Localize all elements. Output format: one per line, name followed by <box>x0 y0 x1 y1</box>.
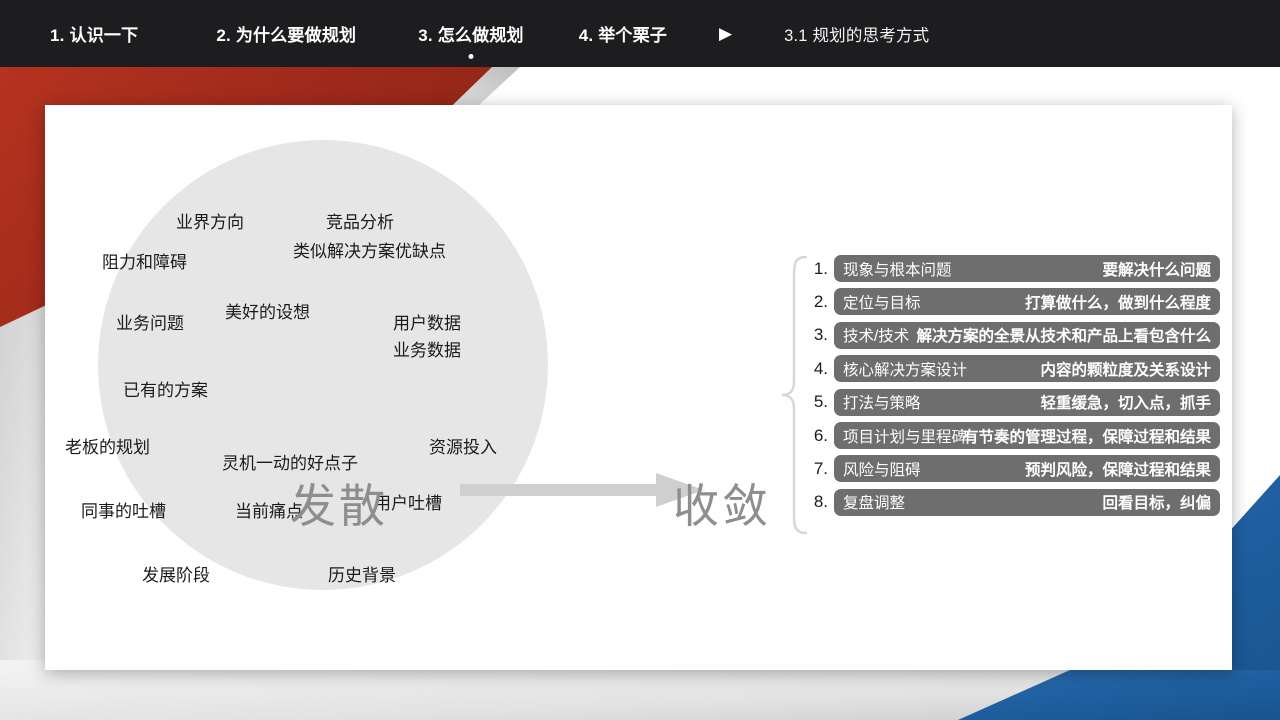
cloud-word: 美好的设想 <box>225 300 310 326</box>
cloud-word: 业界方向 <box>176 210 244 236</box>
row-title: 现象与根本问题 <box>843 258 952 280</box>
row-description: 内容的颗粒度及关系设计 <box>1040 358 1211 380</box>
row-pill[interactable]: 项目计划与里程碑有节奏的管理过程，保障过程和结果 <box>834 422 1220 449</box>
row-description: 打算做什么，做到什么程度 <box>1025 291 1211 313</box>
converge-row[interactable]: 6.项目计划与里程碑有节奏的管理过程，保障过程和结果 <box>802 422 1220 449</box>
row-number: 7. <box>802 459 834 479</box>
cloud-word: 发展阶段 <box>142 563 210 589</box>
converge-row[interactable]: 1.现象与根本问题要解决什么问题 <box>802 255 1220 282</box>
row-number: 5. <box>802 392 834 412</box>
diverge-label: 发散 <box>290 470 388 536</box>
converge-label: 收敛 <box>673 470 771 536</box>
row-pill[interactable]: 现象与根本问题要解决什么问题 <box>834 255 1220 282</box>
cloud-word: 用户数据 <box>393 311 461 337</box>
row-number: 1. <box>802 259 834 279</box>
cloud-word: 老板的规划 <box>65 435 150 461</box>
row-description: 预判风险，保障过程和结果 <box>1025 458 1211 480</box>
nav-item-2[interactable]: 2. 为什么要做规划 <box>216 21 356 46</box>
row-number: 4. <box>802 359 834 379</box>
cloud-word: 资源投入 <box>429 435 497 461</box>
cloud-word: 业务问题 <box>116 311 184 337</box>
converge-list-panel: 1.现象与根本问题要解决什么问题2.定位与目标打算做什么，做到什么程度3.技术/… <box>780 255 1220 535</box>
nav-items-container: 1. 认识一下 2. 为什么要做规划 3. 怎么做规划 4. 举个栗子 ▶ 3.… <box>0 0 1280 67</box>
nav-item-1-label: 1. 认识一下 <box>50 26 138 45</box>
row-pill[interactable]: 风险与阻碍预判风险，保障过程和结果 <box>834 455 1220 482</box>
cloud-word: 竞品分析 <box>326 210 394 236</box>
converge-row[interactable]: 5.打法与策略轻重缓急，切入点，抓手 <box>802 389 1220 416</box>
row-description: 有节奏的管理过程，保障过程和结果 <box>963 425 1211 447</box>
row-description: 轻重缓急，切入点，抓手 <box>1040 391 1211 413</box>
row-title: 打法与策略 <box>843 391 921 413</box>
converge-row[interactable]: 3.技术/技术解决方案的全景从技术和产品上看包含什么 <box>802 322 1220 349</box>
nav-item-1[interactable]: 1. 认识一下 <box>50 21 138 46</box>
converge-row[interactable]: 8.复盘调整回看目标，纠偏 <box>802 489 1220 516</box>
cloud-word: 阻力和障碍 <box>102 250 187 276</box>
row-number: 8. <box>802 492 834 512</box>
slide-canvas: 1. 认识一下 2. 为什么要做规划 3. 怎么做规划 4. 举个栗子 ▶ 3.… <box>0 0 1280 720</box>
active-indicator-dot <box>468 54 473 59</box>
row-pill[interactable]: 技术/技术解决方案的全景从技术和产品上看包含什么 <box>834 322 1220 349</box>
content-card: 业界方向竞品分析类似解决方案优缺点阻力和障碍美好的设想业务问题用户数据业务数据已… <box>45 105 1232 670</box>
row-title: 定位与目标 <box>843 291 921 313</box>
cloud-word: 同事的吐槽 <box>81 499 166 525</box>
row-title: 核心解决方案设计 <box>843 358 967 380</box>
nav-item-2-label: 2. 为什么要做规划 <box>216 26 356 45</box>
row-number: 6. <box>802 426 834 446</box>
cloud-word: 类似解决方案优缺点 <box>293 239 446 265</box>
cloud-word: 历史背景 <box>328 563 396 589</box>
row-description: 回看目标，纠偏 <box>1102 491 1211 513</box>
row-pill[interactable]: 定位与目标打算做什么，做到什么程度 <box>834 288 1220 315</box>
row-title: 项目计划与里程碑 <box>843 425 967 447</box>
nav-item-4-label: 4. 举个栗子 <box>579 26 667 45</box>
row-pill[interactable]: 打法与策略轻重缓急，切入点，抓手 <box>834 389 1220 416</box>
nav-item-3[interactable]: 3. 怎么做规划 <box>418 21 524 46</box>
converge-row[interactable]: 7.风险与阻碍预判风险，保障过程和结果 <box>802 455 1220 482</box>
nav-subtitle: 3.1 规划的思考方式 <box>784 22 929 46</box>
top-navigation-bar: 1. 认识一下 2. 为什么要做规划 3. 怎么做规划 4. 举个栗子 ▶ 3.… <box>0 0 1280 67</box>
row-title: 复盘调整 <box>843 491 905 513</box>
row-pill[interactable]: 复盘调整回看目标，纠偏 <box>834 489 1220 516</box>
row-number: 2. <box>802 292 834 312</box>
row-title: 风险与阻碍 <box>843 458 921 480</box>
chevron-right-icon: ▶ <box>719 25 732 42</box>
nav-item-3-label: 3. 怎么做规划 <box>418 26 524 45</box>
row-title: 技术/技术 <box>843 324 909 346</box>
converge-row[interactable]: 4.核心解决方案设计内容的颗粒度及关系设计 <box>802 355 1220 382</box>
row-pill[interactable]: 核心解决方案设计内容的颗粒度及关系设计 <box>834 355 1220 382</box>
nav-item-4[interactable]: 4. 举个栗子 <box>579 21 667 46</box>
cloud-word: 业务数据 <box>393 338 461 364</box>
converge-row[interactable]: 2.定位与目标打算做什么，做到什么程度 <box>802 288 1220 315</box>
row-description: 解决方案的全景从技术和产品上看包含什么 <box>916 324 1211 346</box>
row-number: 3. <box>802 325 834 345</box>
cloud-word: 已有的方案 <box>123 378 208 404</box>
row-description: 要解决什么问题 <box>1102 258 1211 280</box>
